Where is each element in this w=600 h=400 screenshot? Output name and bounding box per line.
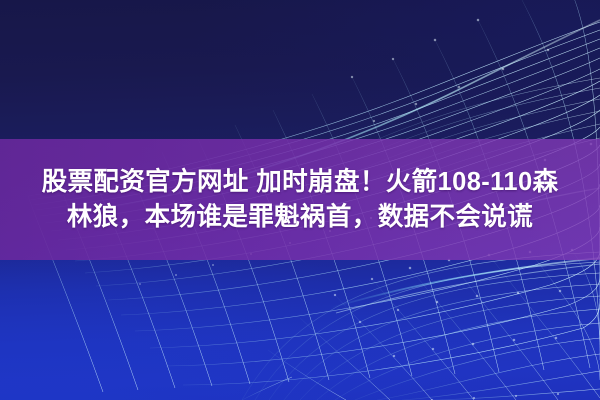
banner-image: 股票配资官方网址 加时崩盘！火箭108-110森 林狼，本场谁是罪魁祸首，数据不… (0, 0, 600, 400)
purple-overlay-band (0, 139, 600, 260)
